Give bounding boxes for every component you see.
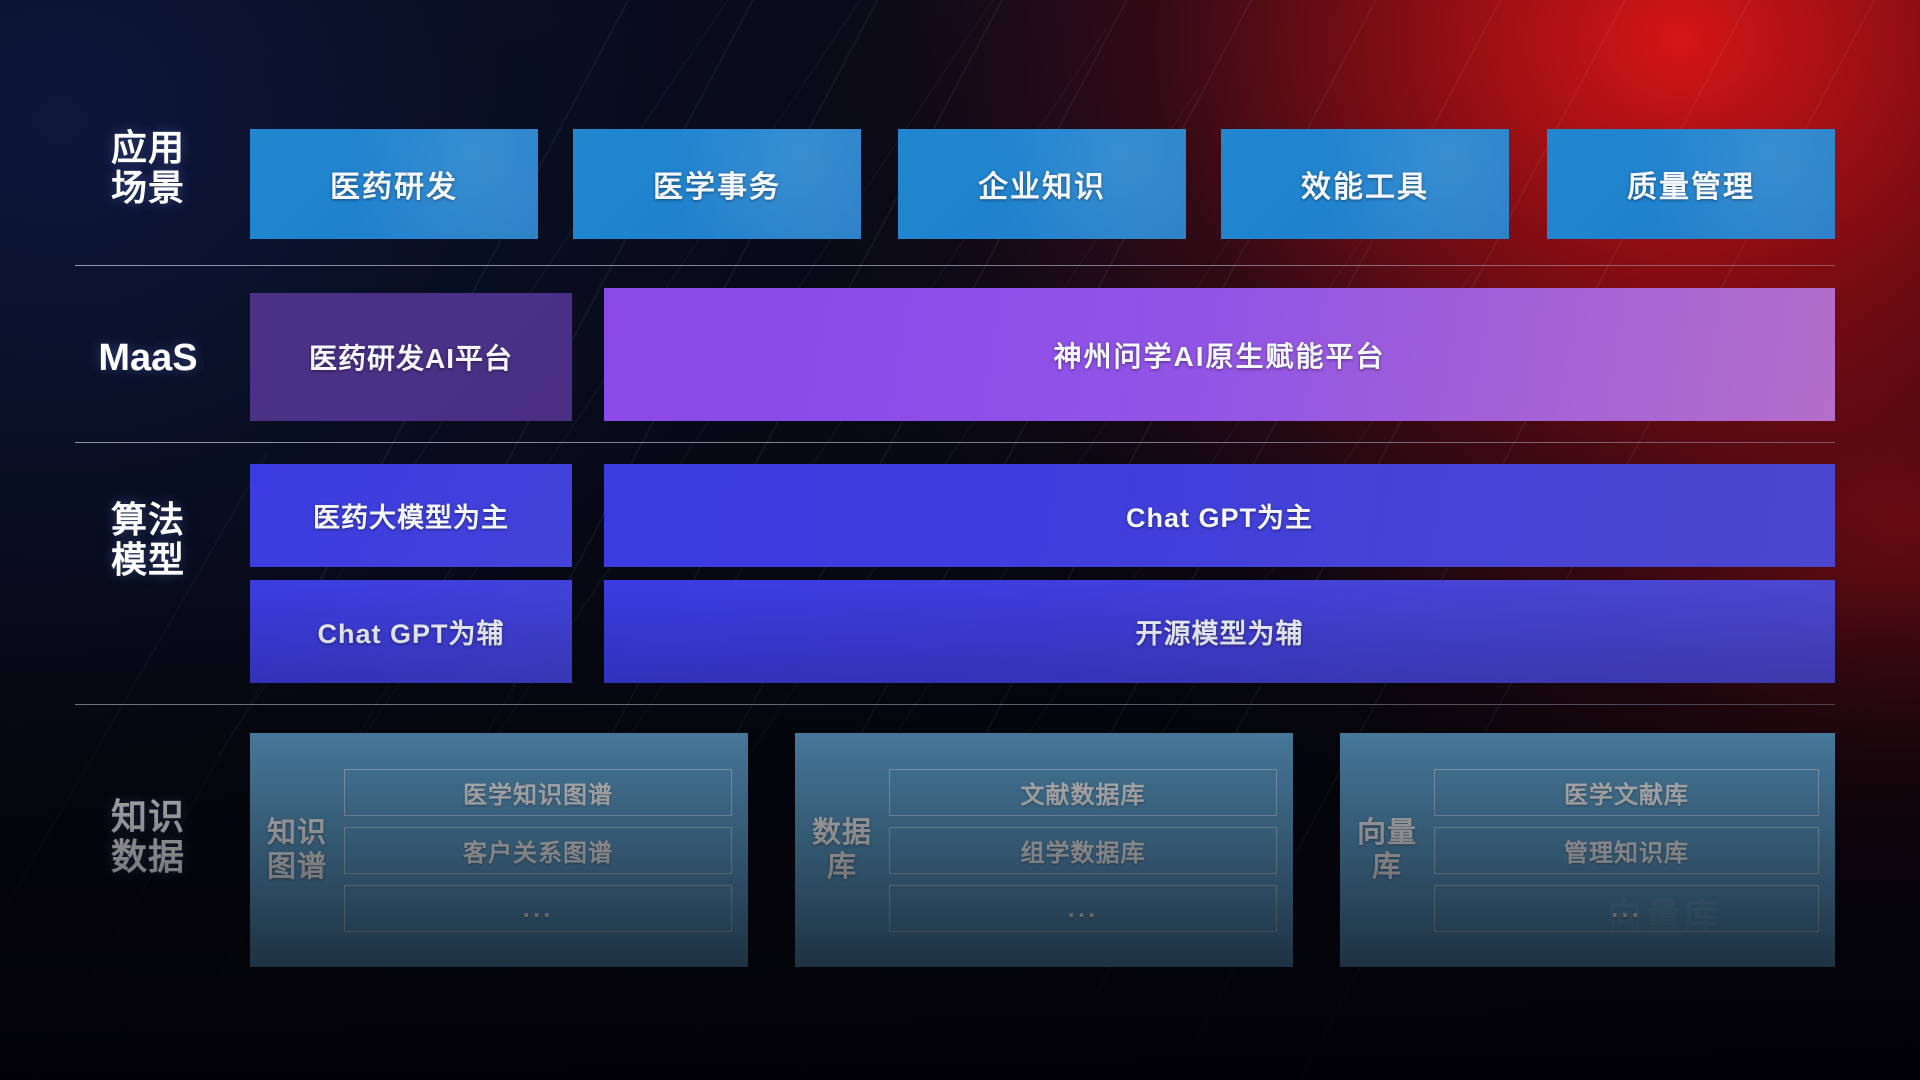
row-label-maas: MaaS	[78, 337, 218, 380]
app-scenario-box-5-label: 质量管理	[1627, 162, 1755, 206]
algorithm-box-left-secondary[interactable]: Chat GPT为辅	[250, 580, 572, 683]
knowledge-group-graph-title: 知识图谱	[260, 816, 334, 884]
row-label-knowledge-line2: 数据	[78, 837, 218, 877]
algorithm-box-right-primary[interactable]: Chat GPT为主	[604, 464, 1835, 567]
knowledge-item[interactable]: 医学知识图谱	[344, 769, 732, 816]
knowledge-item[interactable]: 文献数据库	[889, 769, 1277, 816]
row-label-algorithm-line2: 模型	[78, 540, 218, 580]
maas-platform-box-right[interactable]: 神州问学AI原生赋能平台	[604, 288, 1835, 421]
knowledge-item-label: 组学数据库	[1021, 833, 1146, 868]
knowledge-group-graph[interactable]: 知识图谱 医学知识图谱 客户关系图谱 ...	[250, 733, 748, 967]
row-label-application-line1: 应用	[78, 128, 218, 168]
algorithm-box-right-secondary[interactable]: 开源模型为辅	[604, 580, 1835, 683]
row-label-maas-text: MaaS	[78, 337, 218, 380]
knowledge-item-more[interactable]: ...	[889, 885, 1277, 932]
app-scenario-box-5[interactable]: 质量管理	[1547, 129, 1835, 239]
knowledge-group-graph-items: 医学知识图谱 客户关系图谱 ...	[334, 769, 732, 932]
knowledge-group-vector-items: 医学文献库 管理知识库 ...	[1424, 769, 1819, 932]
row-label-application: 应用 场景	[78, 128, 218, 209]
maas-platform-box-left-label: 医药研发AI平台	[309, 337, 513, 377]
knowledge-item[interactable]: 管理知识库	[1434, 827, 1819, 874]
maas-platform-box-right-label: 神州问学AI原生赋能平台	[1053, 335, 1385, 375]
knowledge-item-label: 医学知识图谱	[463, 775, 613, 810]
row-label-application-line2: 场景	[78, 168, 218, 208]
knowledge-item-more[interactable]: ...	[1434, 885, 1819, 932]
maas-platform-box-left[interactable]: 医药研发AI平台	[250, 293, 572, 421]
knowledge-item-label: 医学文献库	[1564, 775, 1689, 810]
app-scenario-box-4-label: 效能工具	[1301, 162, 1429, 206]
knowledge-group-database-items: 文献数据库 组学数据库 ...	[879, 769, 1277, 932]
knowledge-item-label: ...	[1611, 893, 1642, 924]
app-scenario-box-2[interactable]: 医学事务	[573, 129, 861, 239]
knowledge-item[interactable]: 组学数据库	[889, 827, 1277, 874]
algorithm-box-left-primary-label: 医药大模型为主	[313, 496, 509, 535]
row-label-algorithm: 算法 模型	[78, 500, 218, 581]
divider-algorithm-knowledge	[75, 704, 1835, 705]
row-label-algorithm-line1: 算法	[78, 500, 218, 540]
app-scenario-box-1-label: 医药研发	[330, 162, 458, 206]
algorithm-box-left-secondary-label: Chat GPT为辅	[317, 612, 504, 651]
app-scenario-box-4[interactable]: 效能工具	[1221, 129, 1509, 239]
knowledge-item-label: ...	[1068, 893, 1099, 924]
knowledge-item-label: ...	[523, 893, 554, 924]
algorithm-box-left-primary[interactable]: 医药大模型为主	[250, 464, 572, 567]
row-label-knowledge: 知识 数据	[78, 797, 218, 878]
algorithm-box-right-secondary-label: 开源模型为辅	[1136, 612, 1304, 651]
knowledge-item-label: 文献数据库	[1021, 775, 1146, 810]
app-scenario-box-1[interactable]: 医药研发	[250, 129, 538, 239]
algorithm-box-right-primary-label: Chat GPT为主	[1126, 496, 1313, 535]
knowledge-item-more[interactable]: ...	[344, 885, 732, 932]
knowledge-item-label: 管理知识库	[1564, 833, 1689, 868]
app-scenario-box-3-label: 企业知识	[978, 162, 1106, 206]
knowledge-item-label: 客户关系图谱	[463, 833, 613, 868]
knowledge-item[interactable]: 医学文献库	[1434, 769, 1819, 816]
row-label-knowledge-line1: 知识	[78, 797, 218, 837]
app-scenario-box-2-label: 医学事务	[653, 162, 781, 206]
divider-maas-algorithm	[75, 442, 1835, 443]
knowledge-group-vector-title: 向量库	[1350, 816, 1424, 884]
knowledge-group-database-title: 数据库	[805, 816, 879, 884]
knowledge-group-vector[interactable]: 向量库 医学文献库 管理知识库 ... 向量库	[1340, 733, 1835, 967]
architecture-diagram-canvas: 应用 场景 医药研发 医学事务 企业知识 效能工具 质量管理 MaaS 医药研发…	[0, 0, 1920, 1080]
knowledge-item[interactable]: 客户关系图谱	[344, 827, 732, 874]
divider-application-maas	[75, 265, 1835, 266]
knowledge-group-database[interactable]: 数据库 文献数据库 组学数据库 ...	[795, 733, 1293, 967]
app-scenario-box-3[interactable]: 企业知识	[898, 129, 1186, 239]
